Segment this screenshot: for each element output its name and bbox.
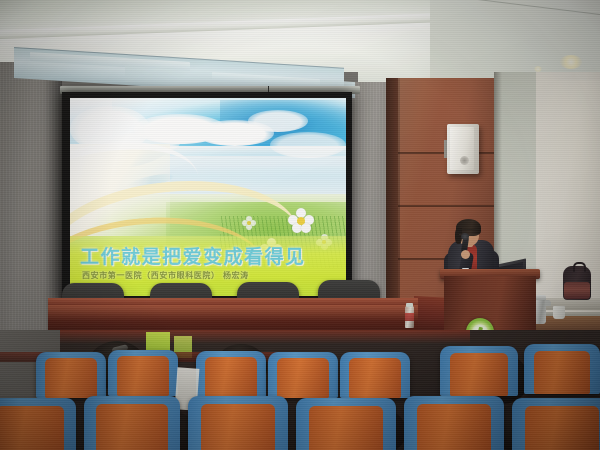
backpack-strap [573, 262, 586, 272]
auditorium-rail [0, 330, 470, 344]
slide-subtitle: 西安市第一医院（西安市眼科医院） 杨宏涛 [82, 270, 332, 281]
downlight-icon [560, 55, 582, 69]
slide-title: 工作就是把爱变成看得见 [80, 242, 330, 269]
wood-panel-seam [398, 205, 498, 207]
auditorium-seat [340, 352, 410, 398]
auditorium-seat [404, 396, 504, 450]
water-bottle-label [405, 313, 414, 321]
auditorium-seat [36, 352, 106, 398]
backpack-flap [564, 282, 590, 299]
auditorium-seat [108, 350, 178, 396]
slide-daisy [288, 208, 314, 234]
projected-slide: 工作就是把爱变成看得见 西安市第一医院（西安市眼科医院） 杨宏涛 [70, 98, 346, 296]
kettle-spout [545, 300, 551, 306]
stage-table-gloss [48, 305, 418, 321]
auditorium-seat [524, 344, 600, 394]
auditorium-seat [188, 396, 288, 450]
pa-speaker-driver-icon [460, 156, 469, 165]
auditorium-seat [84, 396, 180, 450]
auditorium-seat [268, 352, 338, 398]
speaker-hand [461, 250, 470, 259]
stage-table-top [48, 298, 418, 305]
water-bottle-cap [406, 303, 413, 307]
auditorium-seat [0, 398, 76, 450]
auditorium-seat [440, 346, 518, 396]
auditorium-seat [512, 398, 600, 450]
slide-daisy [242, 216, 256, 230]
microphone-head [461, 233, 469, 240]
lecture-hall-photo: 工作就是把爱变成看得见 西安市第一医院（西安市眼科医院） 杨宏涛 [0, 0, 600, 450]
auditorium-seat [296, 398, 396, 450]
cup [553, 306, 565, 319]
auditorium-seat [196, 351, 266, 397]
slide-cloud [248, 110, 308, 132]
